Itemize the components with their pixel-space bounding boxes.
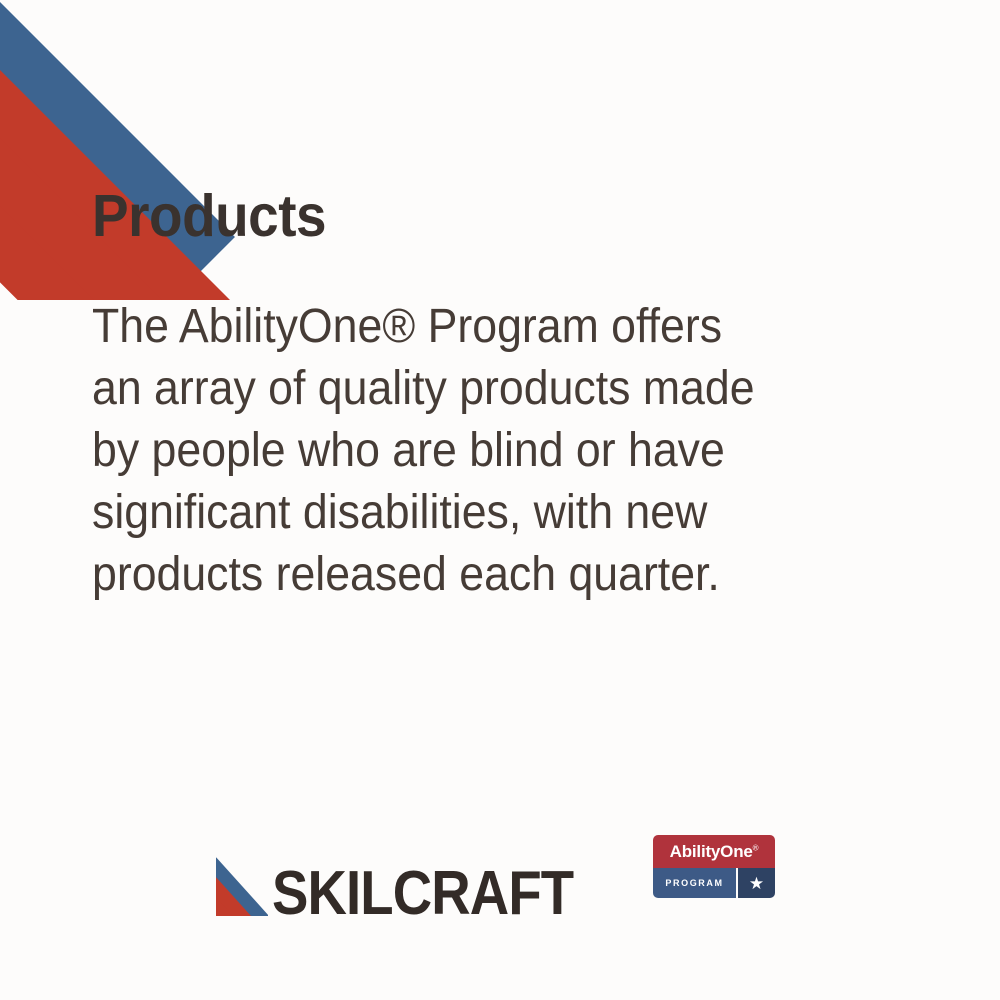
registered-trademark-icon: ® [753,843,759,852]
text-content: Products The AbilityOne® Program offers … [92,186,892,606]
skilcraft-wordmark: SKILCRAFT [272,870,573,918]
body-paragraph: The AbilityOne® Program offers an array … [92,248,892,606]
star-icon: ★ [736,868,775,898]
abilityone-program-block: PROGRAM [653,868,736,898]
body-line-1: The AbilityOne® Program offers [92,296,892,358]
abilityone-wordmark-text: AbilityOne [670,842,753,861]
body-line-5: products released each quarter. [92,544,892,606]
body-line-2: an array of quality products made [92,358,892,420]
body-line-3: by people who are blind or have [92,420,892,482]
abilityone-logo-bottom: PROGRAM ★ [653,868,775,898]
body-line-4: significant disabilities, with new [92,482,892,544]
page-title: Products [92,186,836,248]
skilcraft-logo: SKILCRAFT [216,828,614,918]
abilityone-logo-top: AbilityOne® [653,835,775,868]
skilcraft-flag-icon [216,848,268,916]
abilityone-program-label: PROGRAM [665,879,723,888]
logo-row: SKILCRAFT AbilityOne® PROGRAM ★ [0,820,1000,930]
products-card: Products The AbilityOne® Program offers … [0,0,1000,1000]
abilityone-wordmark: AbilityOne® [670,843,759,860]
abilityone-logo: AbilityOne® PROGRAM ★ [653,835,775,898]
